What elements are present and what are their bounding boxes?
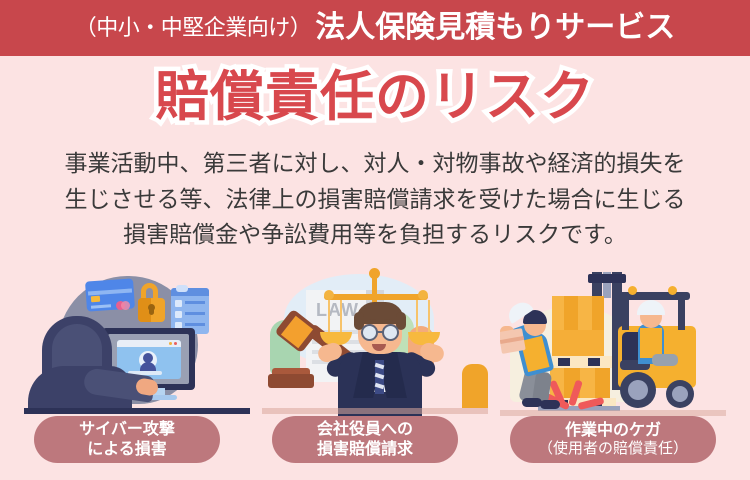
form-document-clip — [176, 285, 188, 292]
illustration-row: LAW — [0, 268, 750, 416]
driver-helmet — [637, 300, 665, 315]
forklift-wheel-front-hub — [628, 380, 648, 400]
forklift-roof — [616, 292, 690, 300]
credit-card-chip — [91, 296, 100, 303]
caption-line-1: サイバー攻撃 — [79, 420, 175, 440]
avatar-body — [140, 362, 156, 371]
worker-shoe-2 — [540, 400, 560, 409]
browser-dot-red — [174, 342, 177, 345]
forklift-cage-post-left — [622, 296, 629, 330]
scales-beam-end-left — [324, 290, 334, 300]
caption-pill-executive-liability: 会社役員への 損害賠償請求 — [272, 416, 458, 463]
header-band: （中小・中堅企業向け） 法人保険見積もりサービス — [0, 0, 750, 56]
caption-line-1: 作業中のケガ — [565, 421, 661, 441]
main-title-area: 賠償責任のリスク — [0, 62, 750, 132]
caption-line-1: 会社役員への — [317, 420, 413, 440]
form-line-2 — [185, 312, 205, 315]
browser-dot-yellow — [169, 342, 172, 345]
caption-pill-workplace-injury: 作業中のケガ （使用者の賠償責任） — [510, 416, 716, 463]
pallet-upper — [546, 356, 612, 368]
cargo-box-top — [552, 296, 604, 330]
scales-chain-4 — [428, 300, 430, 334]
caption-line-2: （使用者の賠償責任） — [538, 440, 688, 458]
forklift-cage-post-right — [678, 296, 685, 330]
desk-surface — [24, 408, 250, 414]
forklift-injury-illustration — [500, 268, 726, 416]
pallet-upper-slot-1 — [558, 358, 570, 366]
cargo-box-middle — [552, 330, 604, 356]
scales-chain-2 — [340, 300, 342, 334]
description-line-3: 損害賠償金や争訟費用等を負担するリスクです。 — [28, 217, 722, 253]
description-line-1: 事業活動中、第三者に対し、対人・対物事故や経済的損失を — [28, 146, 722, 182]
forklift-wheel-rear-hub — [672, 386, 688, 402]
scales-chain-1 — [328, 300, 330, 334]
form-line-3 — [185, 323, 205, 326]
forklift-lamp-left — [628, 286, 637, 295]
glasses-lens-right — [382, 324, 399, 341]
padlock-keyhole-slot — [149, 306, 154, 315]
lawsuit-illustration: LAW — [262, 268, 488, 416]
glasses-bridge — [377, 331, 383, 333]
form-checkbox-2 — [175, 311, 182, 318]
scales-beam-end-right — [418, 290, 428, 300]
worker-shoe-1 — [522, 398, 542, 407]
page-title: 賠償責任のリスク — [155, 70, 595, 124]
forklift-lamp-right — [668, 286, 677, 295]
pallet-upper-slot-2 — [588, 358, 600, 366]
scales-finial — [369, 268, 380, 279]
adjacent-scene-edge — [462, 364, 488, 408]
description-line-2: 生じさせる等、法律上の損害賠償請求を受けた場合に生じる — [28, 182, 722, 218]
form-checkbox-1 — [175, 300, 182, 307]
form-line-1 — [185, 301, 205, 304]
insurance-risk-banner: （中小・中堅企業向け） 法人保険見積もりサービス 賠償責任のリスク 事業活動中、… — [0, 0, 750, 480]
forklift-mast-crossbar — [588, 274, 626, 283]
glasses-lens-left — [361, 324, 378, 341]
scales-chain-3 — [416, 300, 418, 334]
caption-pill-cyber-attack: サイバー攻撃 による損害 — [34, 416, 220, 463]
header-subtitle: （中小・中堅企業向け） — [75, 17, 312, 39]
driver-leg — [652, 354, 678, 366]
cyber-attack-illustration — [24, 268, 250, 416]
description-text: 事業活動中、第三者に対し、対人・対物事故や経済的損失を 生じさせる等、法律上の損… — [28, 146, 722, 253]
ground-line — [262, 408, 488, 414]
caption-line-2: による損害 — [87, 440, 167, 460]
caption-row: サイバー攻撃 による損害 会社役員への 損害賠償請求 作業中のケガ （使用者の賠… — [0, 416, 750, 464]
header-title: 法人保険見積もりサービス — [315, 13, 675, 43]
caption-line-2: 損害賠償請求 — [317, 440, 413, 460]
gavel-sound-block — [268, 374, 314, 388]
